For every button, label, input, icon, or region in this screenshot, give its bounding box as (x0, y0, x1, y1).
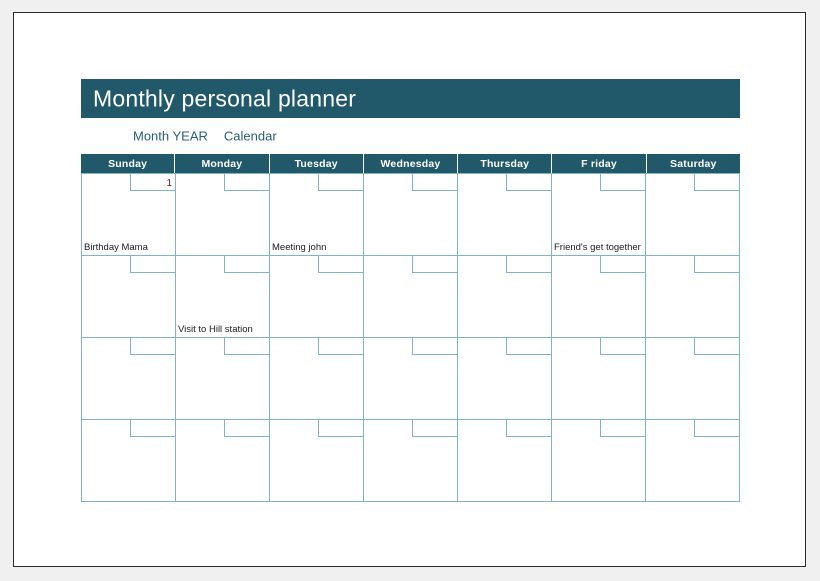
day-cell[interactable] (646, 338, 740, 420)
day-cell[interactable] (176, 338, 270, 420)
date-box (506, 174, 551, 191)
planner-title-bar: Monthly personal planner (81, 79, 740, 118)
day-cell[interactable] (646, 256, 740, 338)
date-box (224, 256, 269, 273)
page-title: Monthly personal planner (93, 85, 356, 112)
date-box (600, 338, 645, 355)
date-box (130, 420, 175, 437)
subtitle-group: Month YEARCalendar (133, 129, 277, 144)
date-box (318, 420, 363, 437)
day-cell[interactable] (458, 420, 552, 502)
weekday-header-saturday: Saturday (647, 154, 740, 173)
day-cell[interactable] (364, 174, 458, 256)
weekday-header-monday: Monday (175, 154, 269, 173)
day-cell[interactable]: Visit to Hill station (176, 256, 270, 338)
date-box (412, 174, 457, 191)
day-cell[interactable]: 1 Birthday Mama (82, 174, 176, 256)
event-text[interactable]: Visit to Hill station (178, 324, 267, 335)
day-cell[interactable] (458, 338, 552, 420)
date-box (412, 338, 457, 355)
day-cell[interactable] (176, 174, 270, 256)
day-cell[interactable] (270, 338, 364, 420)
date-box (412, 256, 457, 273)
date-box (224, 338, 269, 355)
day-cell[interactable] (364, 338, 458, 420)
day-cell[interactable] (552, 420, 646, 502)
weekday-header-tuesday: Tuesday (270, 154, 364, 173)
week-row: 1 Birthday Mama Meeting john (82, 174, 740, 256)
date-box (130, 338, 175, 355)
date-box (506, 420, 551, 437)
day-cell[interactable] (364, 420, 458, 502)
subtitle-month-year: Month YEAR (133, 129, 208, 144)
day-cell[interactable] (176, 420, 270, 502)
day-cell[interactable] (270, 420, 364, 502)
weekday-header-wednesday: Wednesday (364, 154, 458, 173)
day-cell[interactable] (82, 256, 176, 338)
calendar-weeks: 1 Birthday Mama Meeting john (81, 173, 740, 502)
week-row (82, 420, 740, 502)
day-cell[interactable]: Friend's get together (552, 174, 646, 256)
week-row: Visit to Hill station (82, 256, 740, 338)
date-box (506, 338, 551, 355)
date-box (224, 420, 269, 437)
date-box (600, 174, 645, 191)
weekday-header-thursday: Thursday (458, 154, 552, 173)
date-box (694, 256, 739, 273)
monthly-calendar: Sunday Monday Tuesday Wednesday Thursday… (81, 154, 740, 502)
event-text[interactable]: Friend's get together (554, 242, 643, 253)
date-box (130, 256, 175, 273)
day-cell[interactable] (82, 338, 176, 420)
day-cell[interactable] (552, 338, 646, 420)
day-cell[interactable] (646, 174, 740, 256)
date-box (694, 174, 739, 191)
date-box (318, 256, 363, 273)
page-sheet: Monthly personal planner Month YEARCalen… (13, 12, 806, 567)
event-text[interactable]: Birthday Mama (84, 242, 173, 253)
day-cell[interactable] (364, 256, 458, 338)
date-box (318, 338, 363, 355)
date-box (412, 420, 457, 437)
day-cell[interactable] (646, 420, 740, 502)
weekday-header-row: Sunday Monday Tuesday Wednesday Thursday… (81, 154, 740, 173)
date-box: 1 (130, 174, 175, 191)
day-cell[interactable]: Meeting john (270, 174, 364, 256)
date-box (694, 338, 739, 355)
subtitle-calendar-label: Calendar (224, 129, 277, 144)
event-text[interactable]: Meeting john (272, 242, 361, 253)
date-box (600, 256, 645, 273)
day-cell[interactable] (270, 256, 364, 338)
day-cell[interactable] (458, 174, 552, 256)
weekday-header-friday: F riday (552, 154, 646, 173)
date-number: 1 (166, 179, 172, 189)
week-row (82, 338, 740, 420)
date-box (694, 420, 739, 437)
date-box (224, 174, 269, 191)
day-cell[interactable] (458, 256, 552, 338)
date-box (318, 174, 363, 191)
day-cell[interactable] (552, 256, 646, 338)
date-box (600, 420, 645, 437)
date-box (506, 256, 551, 273)
weekday-header-sunday: Sunday (81, 154, 175, 173)
subtitle-row: Month YEARCalendar (81, 118, 740, 154)
day-cell[interactable] (82, 420, 176, 502)
